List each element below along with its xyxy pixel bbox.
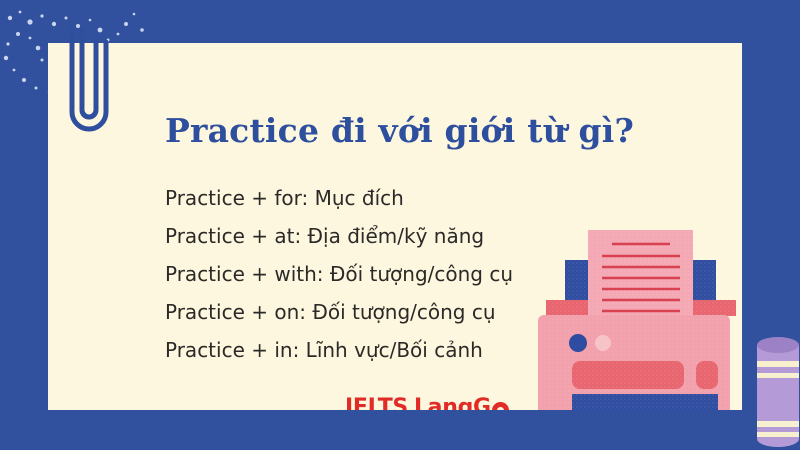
- cup-illustration-icon: [755, 333, 800, 450]
- brand-logo: IELTS Lang G: [345, 396, 509, 410]
- page-title: Practice đi với giới từ gì?: [165, 111, 725, 151]
- logo-bullseye-icon: [492, 402, 509, 411]
- list-item: Practice + for: Mục đích: [165, 179, 685, 217]
- logo-ielts-text: IELTS: [345, 396, 408, 410]
- list-item: Practice + at: Địa điểm/kỹ năng: [165, 217, 685, 255]
- logo-g-text: G: [473, 396, 491, 410]
- list-item: Practice + on: Đối tượng/công cụ: [165, 293, 685, 331]
- slide-canvas: Practice đi với giới từ gì? Practice + f…: [0, 0, 800, 450]
- content-card: Practice đi với giới từ gì? Practice + f…: [48, 43, 742, 410]
- list-item: Practice + with: Đối tượng/công cụ: [165, 255, 685, 293]
- rule-list: Practice + for: Mục đích Practice + at: …: [165, 179, 685, 369]
- list-item: Practice + in: Lĩnh vực/Bối cảnh: [165, 331, 685, 369]
- logo-lang-text: Lang: [414, 396, 473, 410]
